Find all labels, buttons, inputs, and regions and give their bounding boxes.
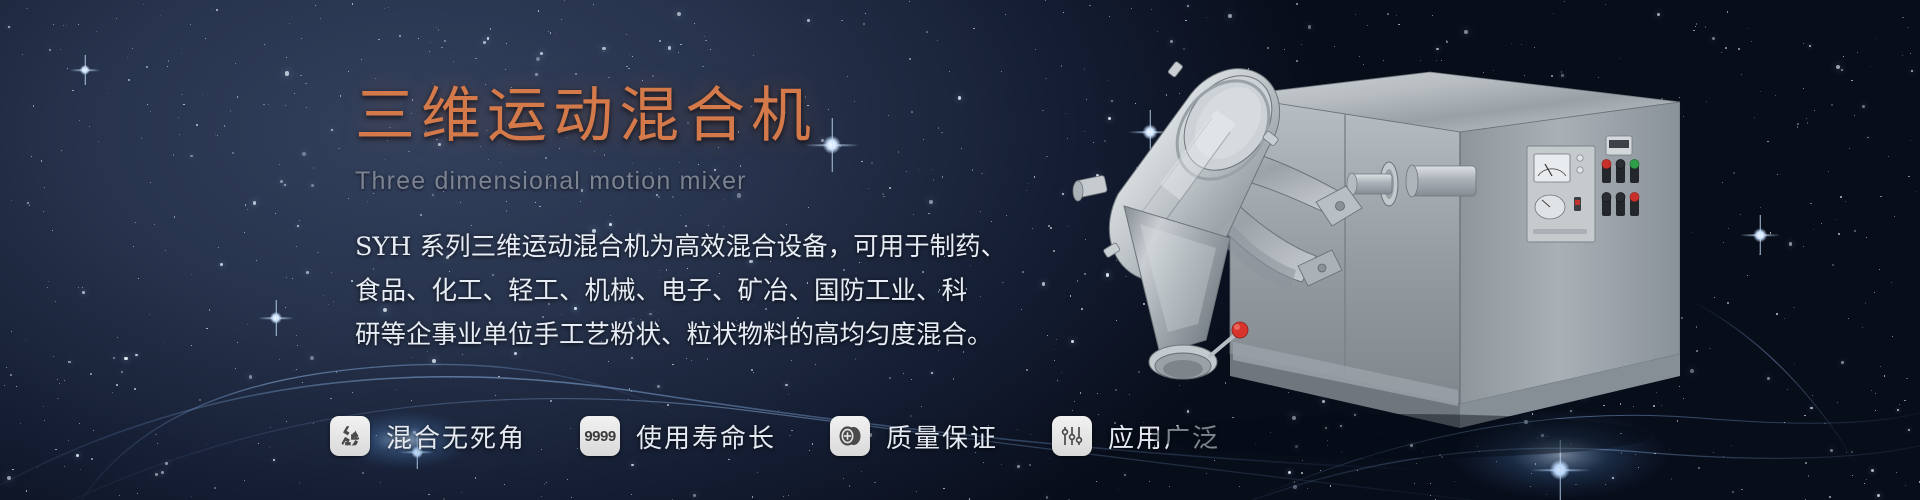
description-line-1: SYH 系列三维运动混合机为高效混合设备，可用于制药、	[355, 226, 975, 270]
feature-item-lifespan[interactable]: 9999 使用寿命长	[580, 416, 776, 456]
feature-label: 质量保证	[886, 418, 998, 455]
product-description: SYH 系列三维运动混合机为高效混合设备，可用于制药、 食品、化工、轻工、机械、…	[355, 226, 975, 358]
lifespan-badge: 9999	[584, 428, 615, 445]
feature-item-mixing[interactable]: 混合无死角	[330, 416, 526, 456]
flare-star-3	[258, 300, 294, 336]
feature-label: 混合无死角	[386, 418, 526, 455]
product-image	[1040, 24, 1680, 490]
recycle-icon	[330, 416, 370, 456]
flare-star-4	[1740, 215, 1780, 255]
page-subtitle: Three dimensional motion mixer	[355, 167, 1075, 196]
flare-star-7	[70, 55, 100, 85]
control-panel	[1527, 146, 1595, 242]
feature-item-quality[interactable]: 质量保证	[830, 416, 998, 456]
page-title: 三维运动混合机	[355, 82, 1075, 151]
hero-banner: 三维运动混合机 Three dimensional motion mixer S…	[0, 0, 1920, 500]
description-line-3: 研等企事业单位手工艺粉状、粒状物料的高均匀度混合。	[355, 314, 975, 358]
description-line-2: 食品、化工、轻工、机械、电子、矿冶、国防工业、科	[355, 270, 975, 314]
quality-coin-icon	[830, 416, 870, 456]
feature-label: 使用寿命长	[636, 418, 776, 455]
hero-copy: 三维运动混合机 Three dimensional motion mixer S…	[355, 82, 1075, 358]
lifespan-9999-icon: 9999	[580, 416, 620, 456]
